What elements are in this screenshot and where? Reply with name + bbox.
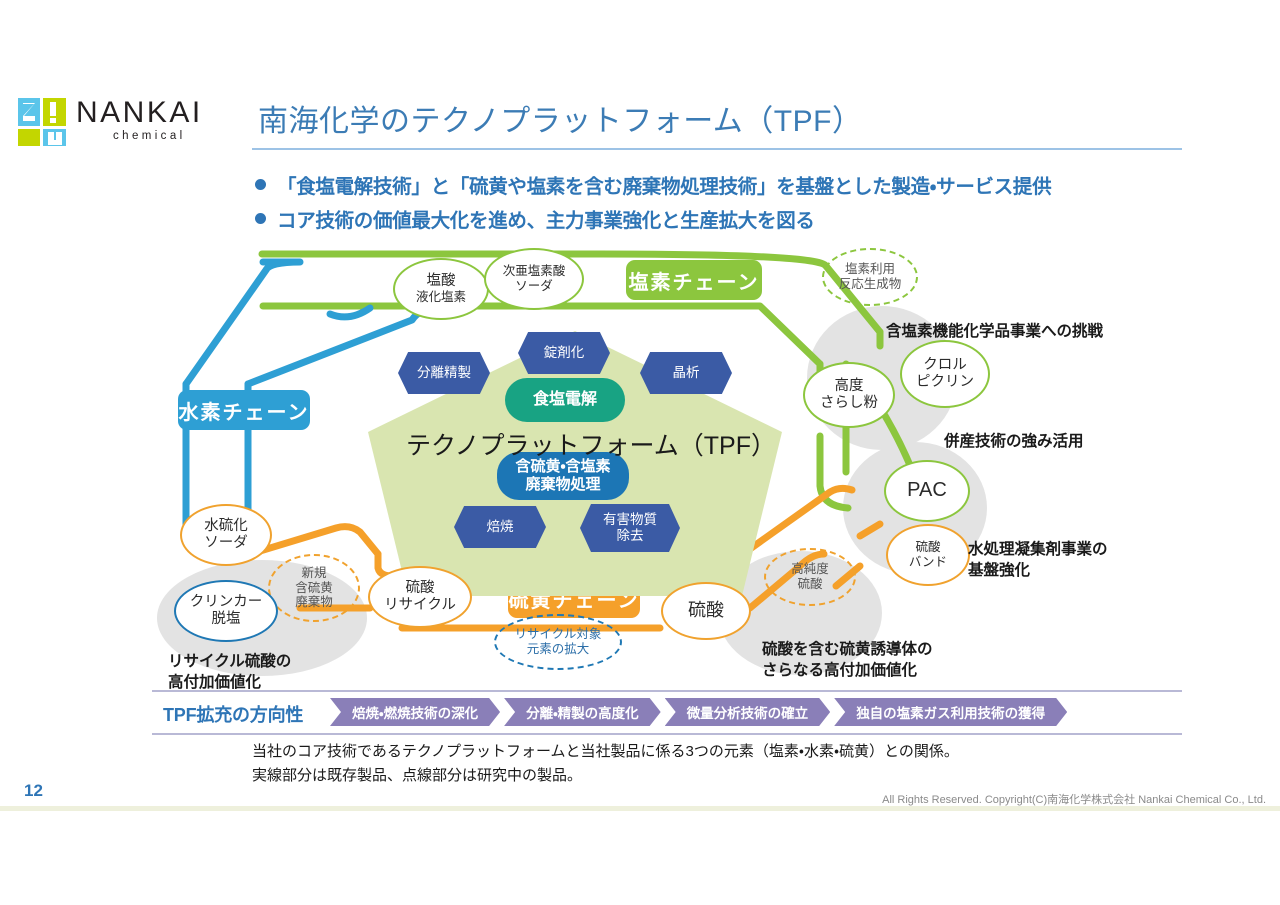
- node-new-sulfur-waste: 新規 含硫黄 廃棄物: [268, 554, 360, 622]
- node-aluminium-sulfate-line0: 硫酸: [915, 540, 940, 555]
- bullet-dot-icon: [255, 179, 266, 190]
- direction-chevron-2-text: 微量分析技術の確立: [687, 702, 809, 722]
- node-aluminium-sulfate: 硫酸 バンド: [886, 524, 970, 586]
- node-sodium-hydrosulfide-line0: 水硫化: [204, 518, 248, 535]
- logo-subtext: chemical: [113, 130, 186, 142]
- direction-chevron-1[interactable]: 分離・精製の高度化: [504, 698, 661, 726]
- node-sodium-hypochlorite-line0: 次亜塩素酸: [503, 264, 566, 279]
- core-chip-crystallization-text: 晶析: [673, 365, 700, 381]
- node-recycle-target-expansion: リサイクル対象 元素の拡大: [494, 614, 622, 670]
- node-high-purity-sulfuric-acid: 高純度 硫酸: [764, 548, 856, 606]
- page-title: 南海化学のテクノプラットフォーム（TPF）: [258, 96, 862, 140]
- node-sodium-hypochlorite: 次亜塩素酸 ソーダ: [484, 248, 584, 310]
- node-sulfuric-acid-recycle: 硫酸 リサイクル: [368, 566, 472, 628]
- node-recycle-target-expansion-line0: リサイクル対象: [515, 627, 602, 642]
- node-chlorine-reaction-product: 塩素利用 反応生成物: [822, 248, 918, 306]
- annotation-water-treatment-base-text: 水処理凝集剤事業の 基盤強化: [968, 541, 1108, 578]
- annotation-sulfur-derivative-value: 硫酸を含む硫黄誘導体の さらなる高付加価値化: [762, 620, 933, 681]
- node-sulfuric-acid-recycle-line1: リサイクル: [384, 597, 456, 614]
- core-chip-roasting: 焙焼: [454, 506, 546, 548]
- node-new-sulfur-waste-line2: 廃棄物: [295, 595, 333, 610]
- node-hydrochloric-acid: 塩酸 液化塩素: [393, 258, 489, 320]
- node-aluminium-sulfate-line1: バンド: [909, 555, 947, 570]
- direction-chevron-3-text: 独自の塩素ガス利用技術の獲得: [856, 702, 1045, 722]
- node-hydrochloric-acid-line0: 塩酸: [427, 273, 456, 290]
- bullet-dot-icon: [255, 213, 266, 224]
- core-chip-tableting-text: 錠剤化: [544, 345, 585, 361]
- node-high-purity-sulfuric-acid-line1: 硫酸: [797, 577, 822, 592]
- node-sulfuric-acid: 硫酸: [661, 582, 751, 640]
- core-title: テクノプラットフォーム（TPF）: [406, 426, 776, 462]
- core-chip-tableting: 錠剤化: [518, 332, 610, 374]
- direction-chevron-2[interactable]: 微量分析技術の確立: [665, 698, 831, 726]
- footer-note-1: 実線部分は既存製品、点線部分は研究中の製品。: [252, 764, 582, 785]
- core-chip-roasting-text: 焙焼: [487, 519, 514, 535]
- annotation-coproduction-strength-text: 併産技術の強み活用: [944, 433, 1084, 450]
- node-sulfuric-acid-label: 硫酸: [688, 600, 724, 621]
- node-high-purity-sulfuric-acid-line0: 高純度: [791, 562, 829, 577]
- direction-chevron-0-text: 焙焼・燃焼技術の深化: [352, 702, 478, 722]
- node-high-test-hypochlorite: 高度 さらし粉: [803, 362, 895, 428]
- footer-band: [0, 806, 1280, 811]
- node-clinker-desalination-line0: クリンカー: [190, 594, 263, 611]
- node-sodium-hydrosulfide-line1: ソーダ: [204, 535, 248, 552]
- core-chip-hazardous-removal: 有害物質 除去: [580, 504, 680, 552]
- nankai-logo-mark-icon: [18, 98, 66, 146]
- core-chip-salt-electrolysis-text: 食塩電解: [533, 390, 597, 409]
- chain-label-sulfur: 硫黄チェーン: [508, 578, 640, 618]
- annotation-sulfur-derivative-value-text: 硫酸を含む硫黄誘導体の さらなる高付加価値化: [762, 641, 933, 678]
- annotation-recycled-sulfuric-value-text: リサイクル硫酸の 高付加価値化: [168, 653, 291, 690]
- company-logo: NANKAI chemical: [18, 96, 233, 154]
- chain-label-chlorine: 塩素チェーン: [626, 260, 762, 300]
- tpf-diagram: 塩素チェーン 水素チェーン 硫黄チェーン 分離精製 錠剤化 晶析 焙焼 有害物質…: [0, 236, 1280, 686]
- core-chip-separation: 分離精製: [398, 352, 490, 394]
- node-sodium-hypochlorite-line1: ソーダ: [515, 279, 553, 294]
- node-new-sulfur-waste-line0: 新規: [301, 566, 326, 581]
- node-new-sulfur-waste-line1: 含硫黄: [295, 581, 333, 596]
- direction-chevron-3[interactable]: 独自の塩素ガス利用技術の獲得: [834, 698, 1067, 726]
- annotation-water-treatment-base: 水処理凝集剤事業の 基盤強化: [968, 520, 1108, 581]
- core-chip-salt-electrolysis: 食塩電解: [505, 378, 625, 422]
- chain-label-sulfur-text: 硫黄チェーン: [509, 584, 640, 613]
- directions-divider-bottom: [152, 733, 1182, 735]
- annotation-recycled-sulfuric-value: リサイクル硫酸の 高付加価値化: [168, 632, 291, 693]
- node-sulfuric-acid-recycle-line0: 硫酸: [406, 580, 435, 597]
- node-recycle-target-expansion-line1: 元素の拡大: [527, 642, 590, 657]
- node-clinker-desalination-line1: 脱塩: [212, 611, 241, 628]
- node-chlorine-reaction-product-line1: 反応生成物: [839, 277, 902, 292]
- node-pac: PAC: [884, 460, 970, 522]
- footer-note-0: 当社のコア技術であるテクノプラットフォームと当社製品に係る3つの元素（塩素・水素…: [252, 740, 959, 761]
- annotation-chlorine-business-challenge: 含塩素機能化学品事業への挑戦: [886, 302, 1103, 343]
- directions-chevron-list: 焙焼・燃焼技術の深化 分離・精製の高度化 微量分析技術の確立 独自の塩素ガス利用…: [330, 698, 1067, 726]
- directions-divider-top: [152, 690, 1182, 692]
- node-chloropicrin-line0: クロル: [923, 357, 967, 374]
- annotation-chlorine-business-challenge-text: 含塩素機能化学品事業への挑戦: [886, 323, 1103, 340]
- node-sodium-hydrosulfide: 水硫化 ソーダ: [180, 504, 272, 566]
- core-chip-waste-treatment-text: 含硫黄・含塩素 廃棄物処理: [515, 458, 610, 494]
- logo-wordmark: NANKAI: [76, 96, 203, 130]
- header-bullet-1-text: コア技術の価値最大化を進め、主力事業強化と生産拡大を図る: [277, 204, 815, 233]
- core-chip-crystallization: 晶析: [640, 352, 732, 394]
- direction-chevron-1-text: 分離・精製の高度化: [526, 702, 639, 722]
- header-bullet-0: 「食塩電解技術」と「硫黄や塩素を含む廃棄物処理技術」を基盤とした製造・サービス提…: [255, 170, 1051, 199]
- node-chloropicrin-line1: ピクリン: [916, 374, 974, 391]
- node-chloropicrin: クロル ピクリン: [900, 340, 990, 408]
- node-pac-label: PAC: [907, 479, 947, 503]
- core-chip-hazardous-removal-text: 有害物質 除去: [603, 512, 657, 544]
- title-divider: [252, 148, 1182, 150]
- node-chlorine-reaction-product-line0: 塩素利用: [845, 262, 895, 277]
- header-bullet-1: コア技術の価値最大化を進め、主力事業強化と生産拡大を図る: [255, 204, 815, 233]
- direction-chevron-0[interactable]: 焙焼・燃焼技術の深化: [330, 698, 500, 726]
- node-hydrochloric-acid-line1: 液化塩素: [416, 290, 466, 305]
- directions-label: TPF拡充の方向性: [163, 701, 303, 727]
- core-title-text: テクノプラットフォーム（TPF）: [406, 432, 776, 460]
- node-high-test-hypochlorite-line1: さらし粉: [820, 395, 878, 412]
- chain-label-hydrogen: 水素チェーン: [178, 390, 310, 430]
- chain-label-chlorine-text: 塩素チェーン: [629, 266, 760, 295]
- annotation-coproduction-strength: 併産技術の強み活用: [944, 412, 1084, 453]
- chain-label-hydrogen-text: 水素チェーン: [179, 396, 310, 425]
- core-chip-separation-text: 分離精製: [417, 365, 471, 381]
- copyright-text: All Rights Reserved. Copyright(C)南海化学株式会…: [882, 791, 1266, 807]
- page-number: 12: [24, 781, 43, 801]
- node-high-test-hypochlorite-line0: 高度: [835, 378, 864, 395]
- header-bullet-0-text: 「食塩電解技術」と「硫黄や塩素を含む廃棄物処理技術」を基盤とした製造・サービス提…: [277, 170, 1051, 199]
